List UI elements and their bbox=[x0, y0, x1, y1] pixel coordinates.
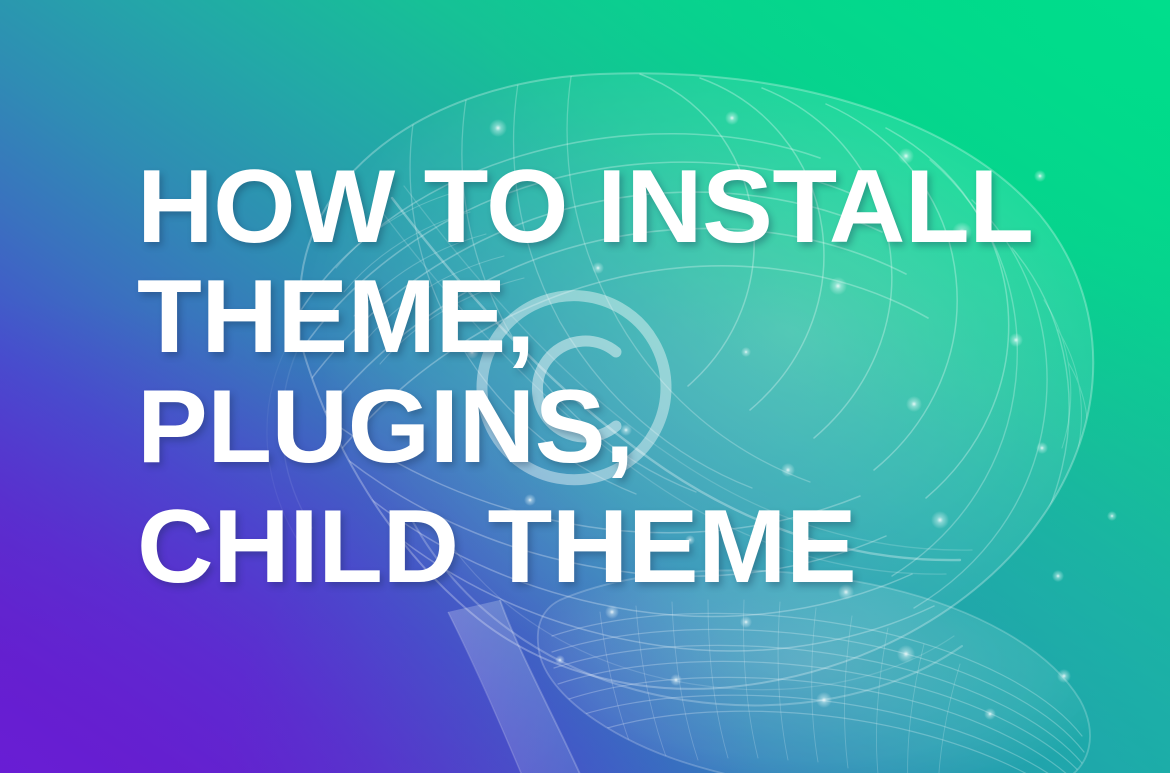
page-title: HOW TO INSTALL THEME, PLUGINS, CHILD THE… bbox=[137, 152, 1117, 602]
headline-line-4: CHILD THEME bbox=[137, 492, 1137, 602]
headline-line-2: THEME, bbox=[137, 262, 1137, 372]
hero-banner: HOW TO INSTALL THEME, PLUGINS, CHILD THE… bbox=[0, 0, 1170, 773]
headline-line-3: PLUGINS, bbox=[137, 372, 1137, 482]
headline-line-1: HOW TO INSTALL bbox=[137, 152, 1137, 262]
